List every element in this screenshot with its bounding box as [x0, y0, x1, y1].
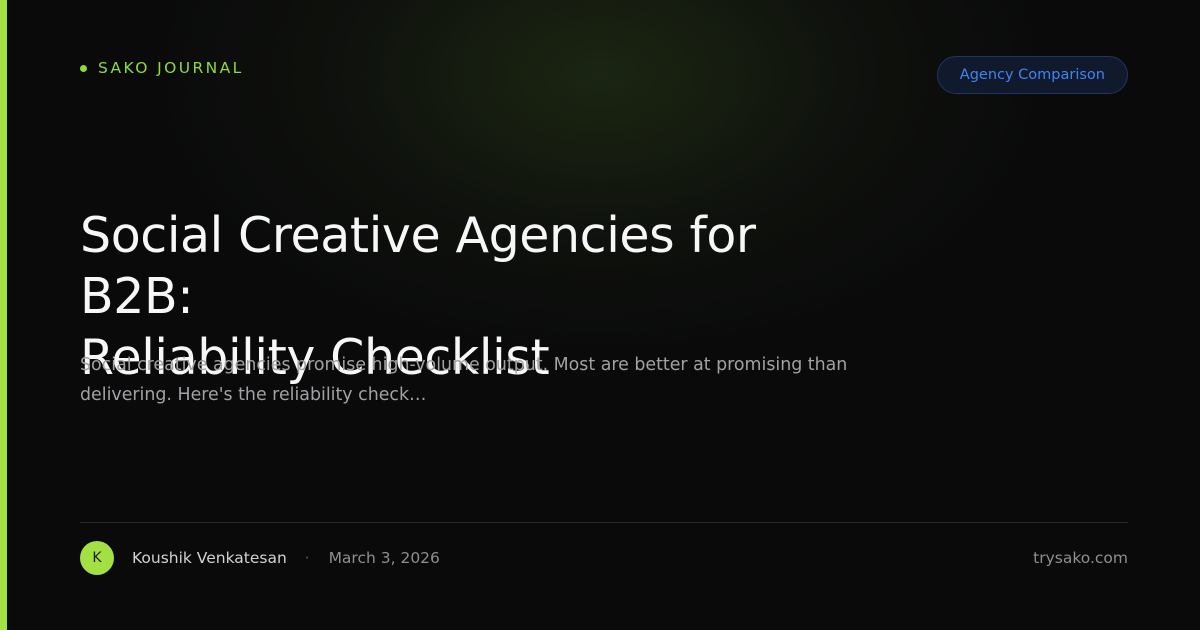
publish-date: March 3, 2026: [329, 549, 440, 567]
avatar: K: [80, 541, 114, 575]
category-badge[interactable]: Agency Comparison: [937, 56, 1128, 94]
social-share-card: SAKO JOURNAL Agency Comparison Social Cr…: [0, 0, 1200, 630]
article-subtitle: Social creative agencies promise high-vo…: [80, 350, 930, 410]
card-content: SAKO JOURNAL Agency Comparison Social Cr…: [80, 0, 1128, 630]
card-header: SAKO JOURNAL Agency Comparison: [80, 56, 1128, 96]
card-footer: K Koushik Venkatesan · March 3, 2026 try…: [80, 540, 1128, 576]
brand-name: SAKO JOURNAL: [98, 59, 244, 77]
brand-logo[interactable]: SAKO JOURNAL: [80, 59, 244, 77]
footer-divider: [80, 522, 1128, 523]
meta-separator: ·: [305, 549, 310, 567]
bullet-dot-icon: [80, 65, 87, 72]
author-name: Koushik Venkatesan: [132, 549, 287, 567]
left-accent-bar: [0, 0, 7, 630]
site-domain: trysako.com: [1033, 549, 1128, 567]
